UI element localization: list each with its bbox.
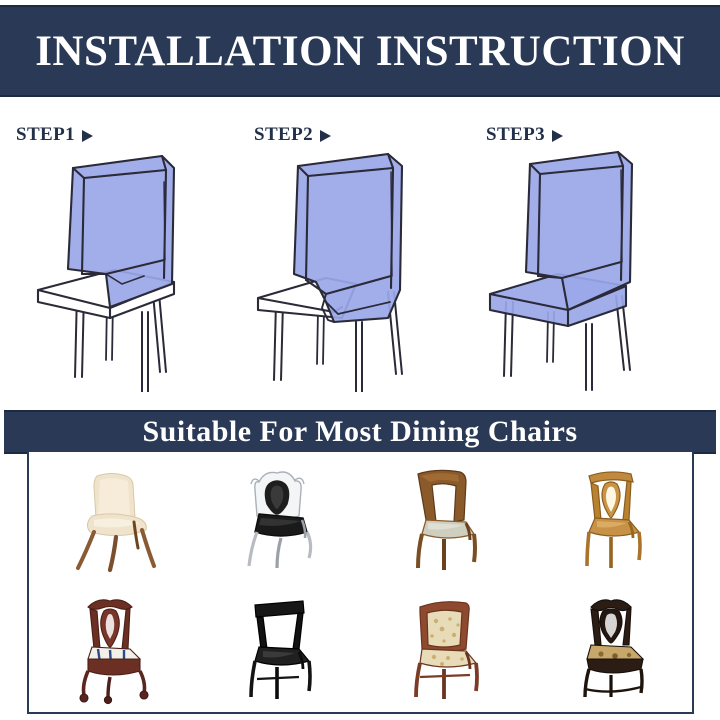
step-3-figure [470,142,705,392]
steps-area: STEP1 [0,100,720,400]
header-banner: INSTALLATION INSTRUCTION [0,5,720,97]
installation-instruction-page: INSTALLATION INSTRUCTION STEP1 [0,0,720,720]
right-triangle-arrow-icon [552,130,563,142]
chair-cell-carved-tapestry-chair [527,583,694,714]
step-3: STEP3 [470,100,705,400]
chair-cell-honey-oak-splat-chair [527,452,694,583]
page-title: INSTALLATION INSTRUCTION [35,30,685,73]
step-1-figure [2,142,237,392]
step-1: STEP1 [2,100,237,400]
suitable-title: Suitable For Most Dining Chairs [143,417,578,447]
chair-cell-cream-parsons-chair [27,452,194,583]
chair-cell-black-dining-chair [194,583,361,714]
chair-cell-cherry-floral-chair [361,583,528,714]
chair-cell-mahogany-chippendale-chair [27,583,194,714]
right-triangle-arrow-icon [82,130,93,142]
step-2: STEP2 [238,100,473,400]
chair-grid [27,452,694,714]
chair-cell-silver-baroque-chair [194,452,361,583]
chair-cell-walnut-open-back-chair [361,452,528,583]
right-triangle-arrow-icon [320,130,331,142]
step-2-figure [238,142,473,392]
suitable-banner: Suitable For Most Dining Chairs [4,410,716,454]
